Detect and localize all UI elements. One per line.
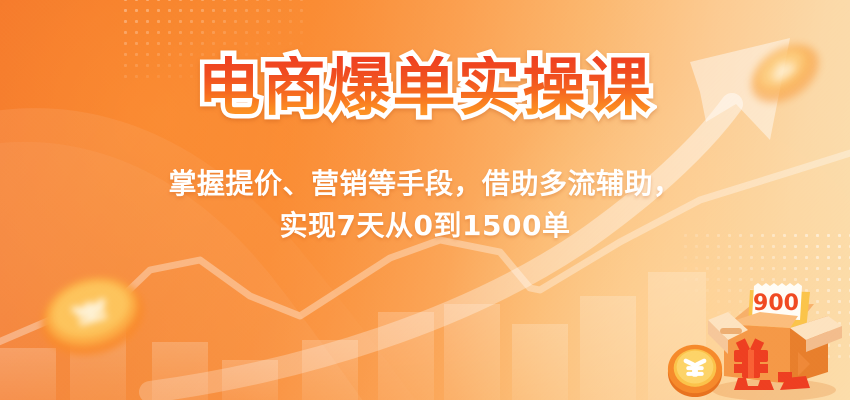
- page-title-fill: 电商爆单实操课: [198, 56, 653, 119]
- course-promo-banner: 900 电商爆单实操课 电商爆: [0, 0, 850, 400]
- banner-text-stack: 电商爆单实操课 电商爆单实操课 掌握提价、营销等手段，借助多流辅助， 实现7天从…: [0, 0, 850, 400]
- subtitle-line-1: 掌握提价、营销等手段，借助多流辅助，: [168, 164, 681, 204]
- page-title: 电商爆单实操课 电商爆单实操课: [198, 56, 653, 138]
- subtitle-line-2: 实现7天从0到1500单: [280, 206, 571, 246]
